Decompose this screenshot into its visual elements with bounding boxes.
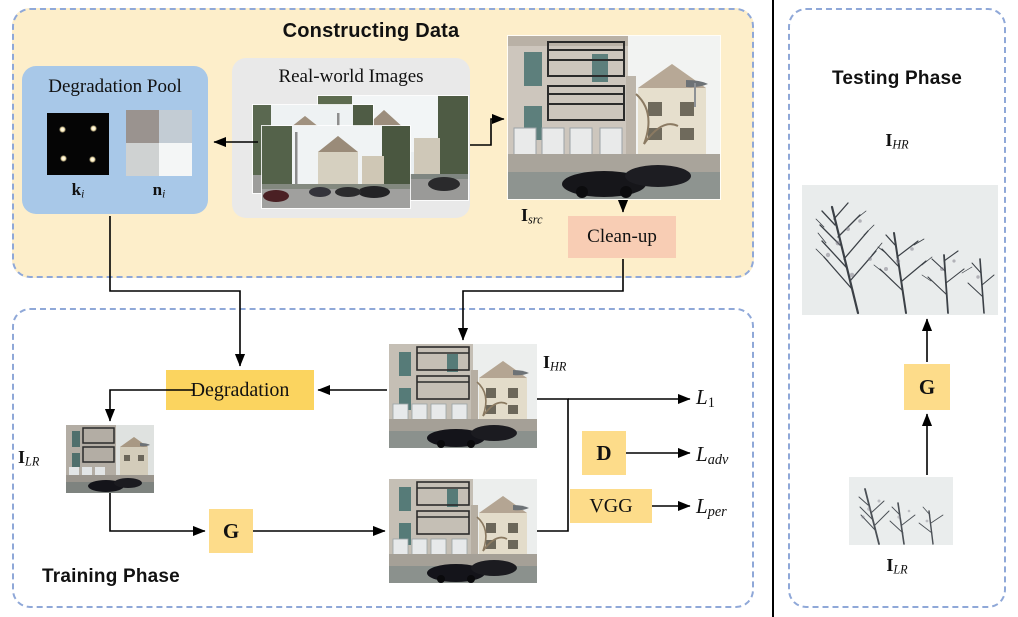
discriminator-box-label: D: [596, 441, 611, 466]
lr-image-label-sub: LR: [25, 455, 39, 469]
discriminator-box[interactable]: D: [582, 431, 626, 475]
degradation-pool-title: Degradation Pool: [22, 76, 208, 98]
tree-branches-low-resolution: [849, 477, 953, 545]
loss-lper: Lper: [696, 494, 727, 521]
low-resolution-building-photo: [66, 425, 154, 493]
lr-image-label-text: I: [18, 447, 25, 467]
generator-box-training[interactable]: G: [209, 509, 253, 553]
kernel-label-sub: i: [81, 188, 84, 201]
clean-up-label: Clean-up: [587, 226, 657, 248]
loss-l1-name: L: [696, 385, 708, 409]
real-world-images-title: Real-world Images: [232, 66, 470, 88]
blur-kernel-image: [47, 113, 109, 175]
generator-box-testing-label: G: [919, 375, 935, 400]
loss-ladv-sub: adv: [708, 452, 729, 468]
source-image-label-text: I: [521, 205, 528, 225]
generator-box-training-label: G: [223, 519, 239, 544]
tree-branches-high-resolution: [802, 185, 998, 315]
loss-ladv: Ladv: [696, 442, 728, 469]
loss-lper-sub: per: [708, 504, 727, 520]
noise-label-sub: i: [162, 188, 165, 201]
vgg-box-label: VGG: [589, 495, 632, 518]
vertical-divider: [772, 0, 774, 617]
test-lr-label: ILR: [788, 555, 1006, 578]
hr-image-label-text: I: [543, 352, 550, 372]
source-image-label: Isrc: [521, 205, 543, 228]
kernel-label: ki: [47, 180, 109, 201]
noise-patch-image: [126, 110, 192, 176]
loss-l1-sub: 1: [708, 395, 715, 411]
high-resolution-building-photo: [389, 344, 537, 448]
testing-phase-title: Testing Phase: [788, 68, 1006, 90]
clean-up-box[interactable]: Clean-up: [568, 216, 676, 258]
test-lr-label-sub: LR: [893, 563, 907, 577]
generated-building-photo: [389, 479, 537, 583]
hr-image-label-sub: HR: [550, 360, 566, 374]
training-phase-title: Training Phase: [42, 566, 180, 588]
degradation-box[interactable]: Degradation: [166, 370, 314, 410]
street-photo-3: [262, 126, 410, 208]
source-building-photo: [508, 36, 720, 199]
noise-label: ni: [126, 180, 192, 201]
test-hr-label: IHR: [788, 130, 1006, 153]
hr-image-label: IHR: [543, 352, 566, 375]
degradation-box-label: Degradation: [191, 379, 290, 402]
generator-box-testing[interactable]: G: [904, 364, 950, 410]
loss-lper-name: L: [696, 494, 708, 518]
lr-image-label: ILR: [18, 447, 39, 470]
loss-l1: L1: [696, 385, 715, 412]
kernel-label-text: k: [72, 180, 81, 199]
loss-ladv-name: L: [696, 442, 708, 466]
test-hr-label-sub: HR: [892, 138, 908, 152]
source-image-label-sub: src: [528, 213, 543, 227]
vgg-box[interactable]: VGG: [570, 489, 652, 523]
noise-label-text: n: [153, 180, 162, 199]
